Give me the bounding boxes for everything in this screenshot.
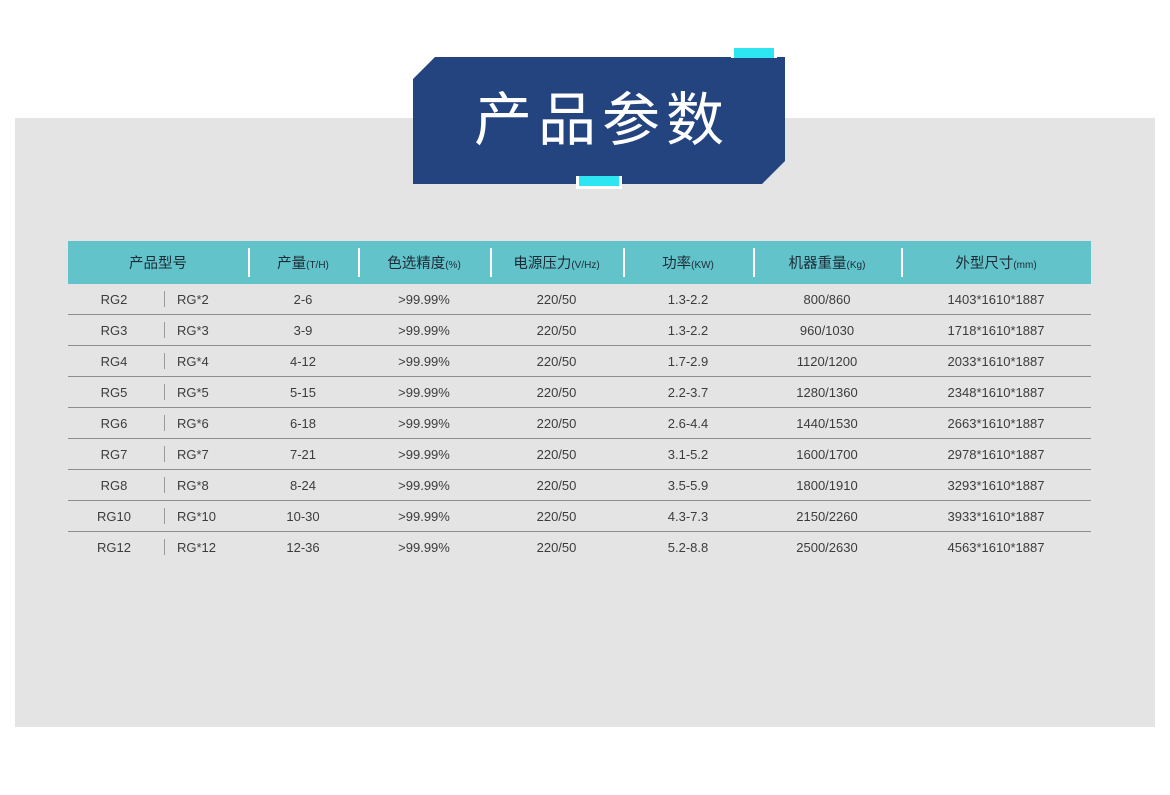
column-header-accuracy: 色选精度(%): [358, 241, 490, 284]
cell-model-secondary: RG*4: [165, 354, 257, 369]
cell-model-secondary: RG*12: [165, 540, 257, 555]
cell-power-supply: 220/50: [490, 532, 623, 563]
cell-capacity: 10-30: [248, 501, 358, 532]
cell-dimensions: 2033*1610*1887: [901, 346, 1091, 377]
cell-power: 4.3-7.3: [623, 501, 753, 532]
column-header-weight-unit: (Kg): [847, 260, 866, 271]
banner-top-accent-tab: [731, 45, 777, 58]
cell-dimensions: 2978*1610*1887: [901, 439, 1091, 470]
column-header-dimensions: 外型尺寸(mm): [901, 241, 1091, 284]
cell-weight: 1600/1700: [753, 439, 901, 470]
cell-capacity: 5-15: [248, 377, 358, 408]
column-header-dimensions-unit: (mm): [1013, 260, 1036, 271]
column-header-model: 产品型号: [68, 241, 248, 284]
cell-weight: 800/860: [753, 284, 901, 315]
cell-power: 1.3-2.2: [623, 315, 753, 346]
cell-capacity: 8-24: [248, 470, 358, 501]
column-header-power: 功率(KW): [623, 241, 753, 284]
cell-weight: 960/1030: [753, 315, 901, 346]
banner-bottom-accent-tab: [576, 176, 622, 189]
cell-accuracy: >99.99%: [358, 377, 490, 408]
column-header-power-supply: 电源压力(V/Hz): [490, 241, 623, 284]
cell-accuracy: >99.99%: [358, 284, 490, 315]
cell-power: 1.3-2.2: [623, 284, 753, 315]
cell-model-secondary: RG*6: [165, 416, 257, 431]
cell-accuracy: >99.99%: [358, 439, 490, 470]
column-header-power-supply-label: 电源压力: [513, 256, 571, 272]
column-header-accuracy-unit: (%): [445, 260, 461, 271]
cell-power-supply: 220/50: [490, 439, 623, 470]
product-specifications-table: 产品型号 产量(T/H) 色选精度(%) 电源压力(V/Hz) 功率(KW) 机…: [68, 241, 1091, 562]
column-header-model-label: 产品型号: [129, 256, 187, 272]
cell-capacity: 4-12: [248, 346, 358, 377]
page-title: 产品参数: [413, 57, 785, 184]
cell-power: 5.2-8.8: [623, 532, 753, 563]
cell-capacity: 2-6: [248, 284, 358, 315]
cell-model-primary: RG2: [68, 292, 164, 307]
cell-model-secondary: RG*10: [165, 509, 257, 524]
cell-weight: 1440/1530: [753, 408, 901, 439]
cell-model-primary: RG8: [68, 478, 164, 493]
cell-dimensions: 3293*1610*1887: [901, 470, 1091, 501]
column-header-power-label: 功率: [662, 256, 691, 272]
cell-power-supply: 220/50: [490, 377, 623, 408]
cell-weight: 2500/2630: [753, 532, 901, 563]
cell-power: 3.5-5.9: [623, 470, 753, 501]
column-header-capacity: 产量(T/H): [248, 241, 358, 284]
column-header-weight: 机器重量(Kg): [753, 241, 901, 284]
cell-model-primary: RG5: [68, 385, 164, 400]
cell-weight: 2150/2260: [753, 501, 901, 532]
table-row: RG8RG*8 8-24 >99.99% 220/50 3.5-5.9 1800…: [68, 470, 1091, 501]
cell-capacity: 7-21: [248, 439, 358, 470]
cell-dimensions: 2348*1610*1887: [901, 377, 1091, 408]
column-header-dimensions-label: 外型尺寸: [955, 256, 1013, 272]
cell-capacity: 12-36: [248, 532, 358, 563]
cell-dimensions: 4563*1610*1887: [901, 532, 1091, 563]
cell-model-secondary: RG*2: [165, 292, 257, 307]
table-row: RG7RG*7 7-21 >99.99% 220/50 3.1-5.2 1600…: [68, 439, 1091, 470]
cell-model-primary: RG6: [68, 416, 164, 431]
cell-model-secondary: RG*8: [165, 478, 257, 493]
cell-dimensions: 3933*1610*1887: [901, 501, 1091, 532]
column-header-capacity-label: 产量: [277, 256, 306, 272]
table-row: RG5RG*5 5-15 >99.99% 220/50 2.2-3.7 1280…: [68, 377, 1091, 408]
product-parameters-banner: 产品参数: [413, 57, 785, 184]
cell-power-supply: 220/50: [490, 346, 623, 377]
table-row: RG3RG*3 3-9 >99.99% 220/50 1.3-2.2 960/1…: [68, 315, 1091, 346]
cell-accuracy: >99.99%: [358, 501, 490, 532]
cell-model-primary: RG10: [68, 509, 164, 524]
cell-model: RG7RG*7: [68, 439, 248, 470]
cell-power-supply: 220/50: [490, 501, 623, 532]
cell-dimensions: 2663*1610*1887: [901, 408, 1091, 439]
cell-power: 2.6-4.4: [623, 408, 753, 439]
cell-power-supply: 220/50: [490, 284, 623, 315]
cell-model: RG3RG*3: [68, 315, 248, 346]
cell-model-secondary: RG*5: [165, 385, 257, 400]
table-body: RG2RG*2 2-6 >99.99% 220/50 1.3-2.2 800/8…: [68, 284, 1091, 562]
cell-model: RG10RG*10: [68, 501, 248, 532]
table-row: RG12RG*12 12-36 >99.99% 220/50 5.2-8.8 2…: [68, 532, 1091, 563]
cell-model-secondary: RG*3: [165, 323, 257, 338]
cell-power: 2.2-3.7: [623, 377, 753, 408]
cell-accuracy: >99.99%: [358, 408, 490, 439]
column-header-accuracy-label: 色选精度: [387, 256, 445, 272]
cell-model-primary: RG7: [68, 447, 164, 462]
cell-dimensions: 1718*1610*1887: [901, 315, 1091, 346]
cell-accuracy: >99.99%: [358, 470, 490, 501]
cell-model-primary: RG4: [68, 354, 164, 369]
cell-power-supply: 220/50: [490, 315, 623, 346]
cell-model: RG2RG*2: [68, 284, 248, 315]
cell-model-primary: RG3: [68, 323, 164, 338]
cell-model-primary: RG12: [68, 540, 164, 555]
cell-power-supply: 220/50: [490, 408, 623, 439]
cell-model: RG5RG*5: [68, 377, 248, 408]
cell-power-supply: 220/50: [490, 470, 623, 501]
cell-accuracy: >99.99%: [358, 346, 490, 377]
cell-power: 3.1-5.2: [623, 439, 753, 470]
cell-weight: 1800/1910: [753, 470, 901, 501]
table-header: 产品型号 产量(T/H) 色选精度(%) 电源压力(V/Hz) 功率(KW) 机…: [68, 241, 1091, 284]
cell-weight: 1120/1200: [753, 346, 901, 377]
cell-capacity: 3-9: [248, 315, 358, 346]
table-row: RG6RG*6 6-18 >99.99% 220/50 2.6-4.4 1440…: [68, 408, 1091, 439]
column-header-capacity-unit: (T/H): [306, 260, 329, 271]
table-row: RG2RG*2 2-6 >99.99% 220/50 1.3-2.2 800/8…: [68, 284, 1091, 315]
table-row: RG10RG*10 10-30 >99.99% 220/50 4.3-7.3 2…: [68, 501, 1091, 532]
cell-dimensions: 1403*1610*1887: [901, 284, 1091, 315]
cell-model-secondary: RG*7: [165, 447, 257, 462]
cell-capacity: 6-18: [248, 408, 358, 439]
column-header-power-supply-unit: (V/Hz): [571, 260, 599, 271]
table-row: RG4RG*4 4-12 >99.99% 220/50 1.7-2.9 1120…: [68, 346, 1091, 377]
cell-power: 1.7-2.9: [623, 346, 753, 377]
cell-model: RG12RG*12: [68, 532, 248, 563]
cell-accuracy: >99.99%: [358, 532, 490, 563]
cell-weight: 1280/1360: [753, 377, 901, 408]
cell-model: RG8RG*8: [68, 470, 248, 501]
cell-model: RG6RG*6: [68, 408, 248, 439]
column-header-power-unit: (KW): [691, 260, 714, 271]
cell-accuracy: >99.99%: [358, 315, 490, 346]
cell-model: RG4RG*4: [68, 346, 248, 377]
table-header-row: 产品型号 产量(T/H) 色选精度(%) 电源压力(V/Hz) 功率(KW) 机…: [68, 241, 1091, 284]
column-header-weight-label: 机器重量: [789, 256, 847, 272]
